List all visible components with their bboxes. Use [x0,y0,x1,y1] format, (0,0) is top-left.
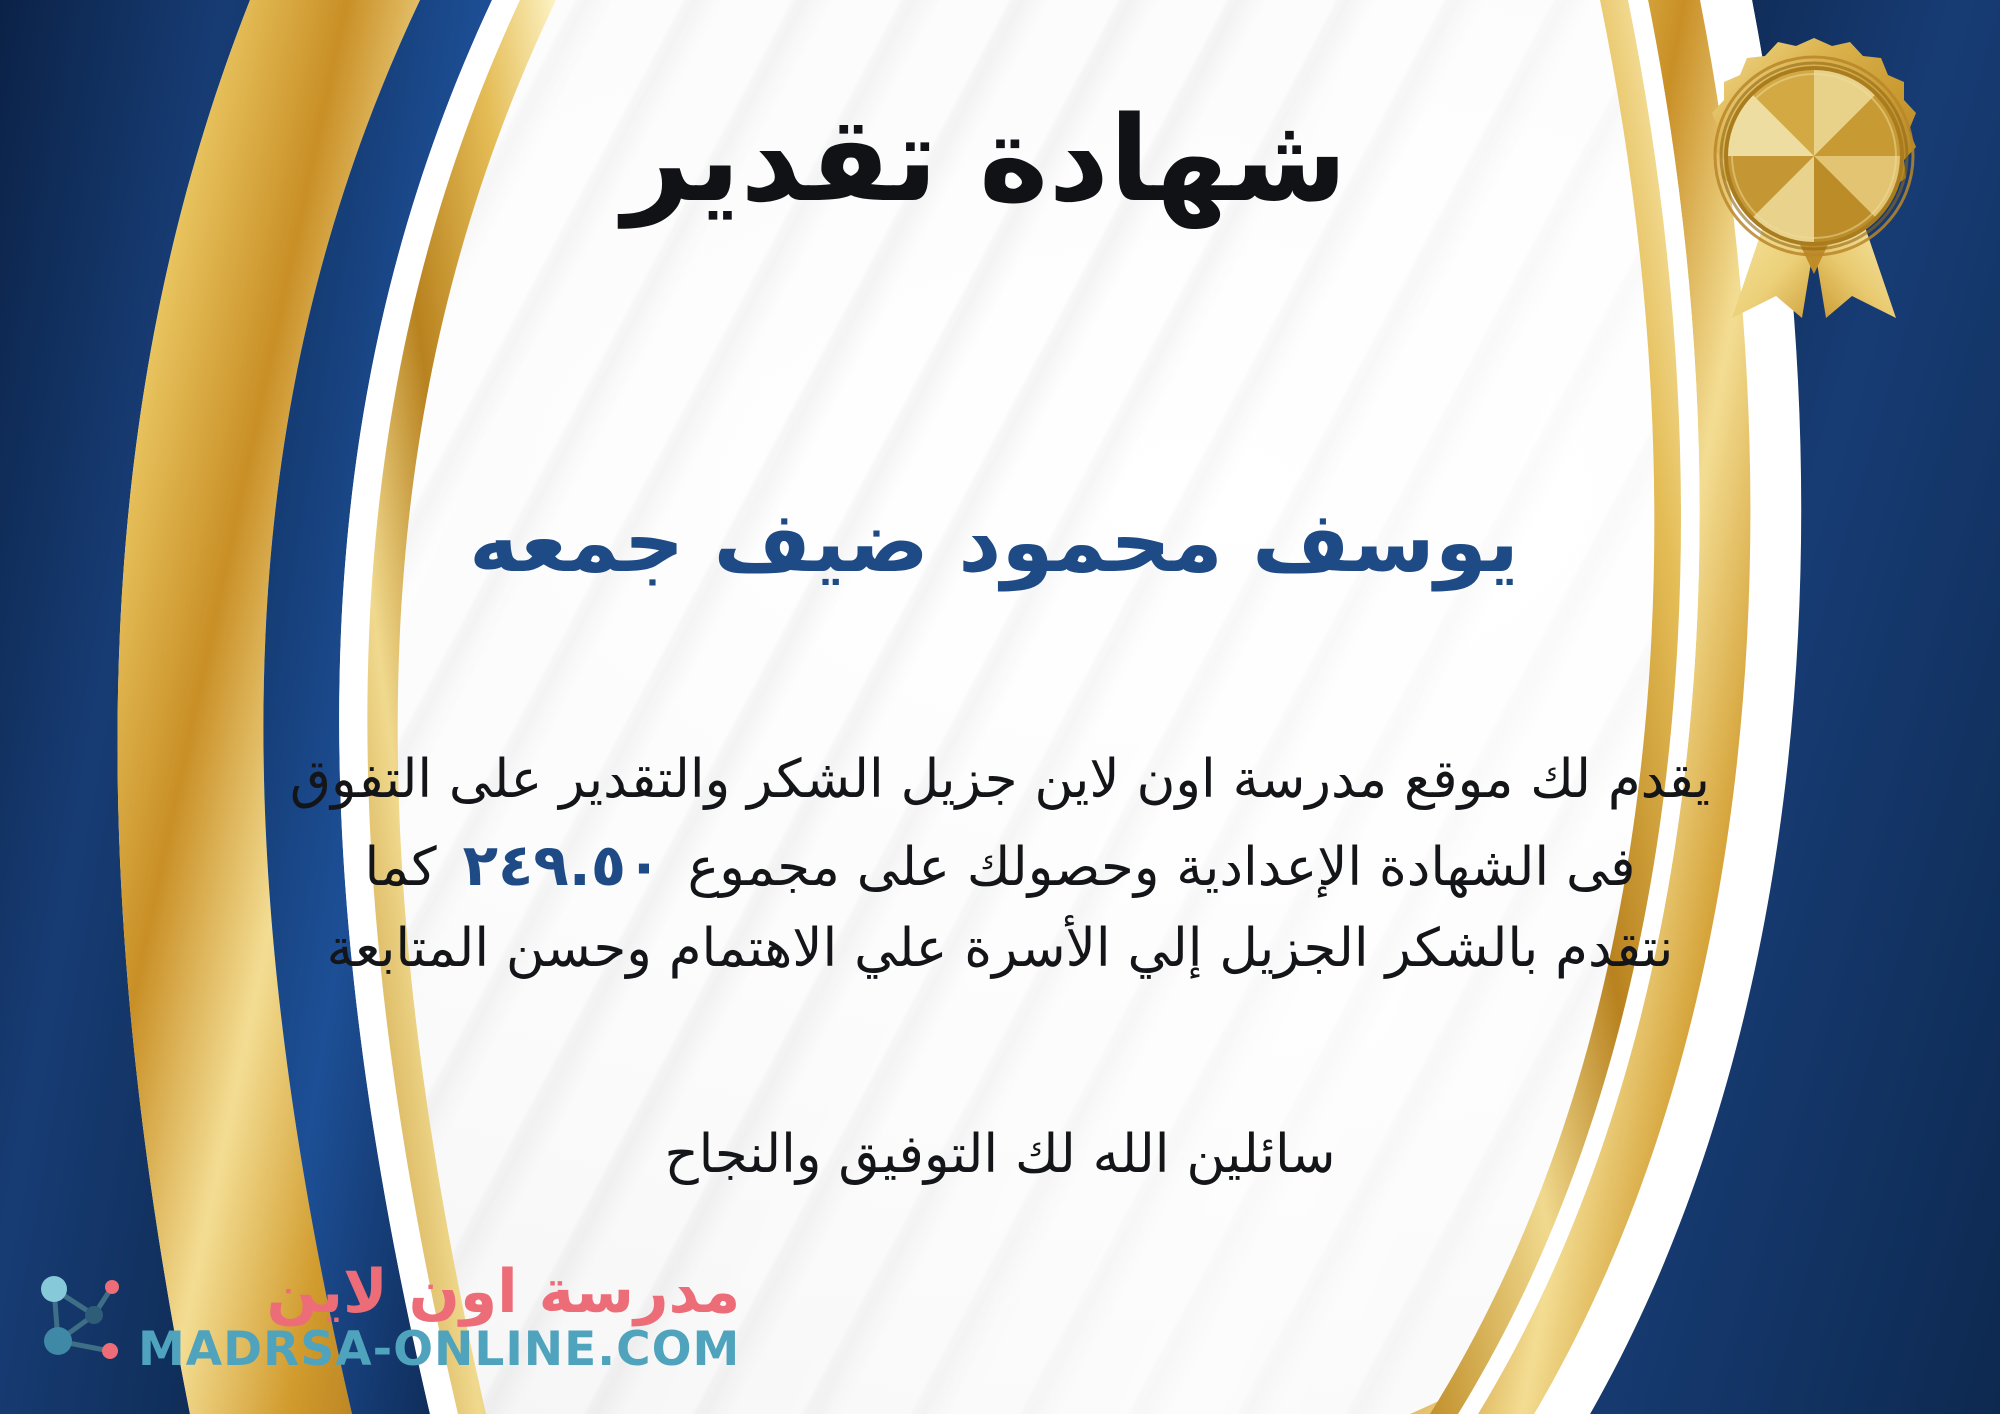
recipient-name: يوسف محمود ضيف جمعه [0,492,2000,593]
body-line-3: نتقدم بالشكر الجزيل إلي الأسرة علي الاهت… [55,909,1945,990]
brand-logo[interactable]: مدرسة اون لاين MADRSA-ONLINE.COM [32,1261,740,1376]
brand-text-group: مدرسة اون لاين MADRSA-ONLINE.COM [138,1261,740,1376]
body-line-2-prefix: فى الشهادة الإعدادية وحصولك على مجموع [688,837,1636,898]
brand-website-url: MADRSA-ONLINE.COM [138,1324,740,1376]
certificate-canvas: شهادة تقدير يوسف محمود ضيف جمعه يقدم لك … [0,0,2000,1414]
network-nodes-icon [32,1267,128,1371]
certificate-body: يقدم لك موقع مدرسة اون لاين جزيل الشكر و… [55,740,1945,989]
certificate-content: شهادة تقدير يوسف محمود ضيف جمعه يقدم لك … [0,0,2000,1414]
brand-arabic-name: مدرسة اون لاين [267,1261,741,1324]
score-value: ٢٤٩.٥٠ [437,831,688,899]
body-line-2-suffix: كما [365,837,437,898]
closing-wish: سائلين الله لك التوفيق والنجاح [0,1118,2000,1192]
body-line-1: يقدم لك موقع مدرسة اون لاين جزيل الشكر و… [55,740,1945,821]
body-line-2: فى الشهادة الإعدادية وحصولك على مجموع٢٤٩… [55,821,1945,909]
page-title: شهادة تقدير [0,96,2000,223]
